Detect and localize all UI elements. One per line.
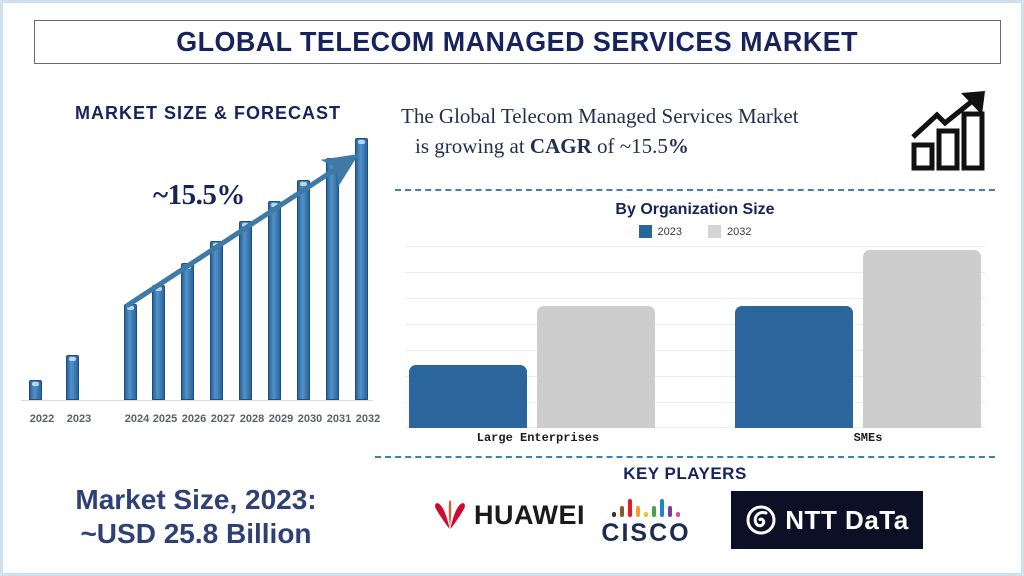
legend-swatch-2032: [708, 225, 721, 238]
legend-label-2032: 2032: [727, 226, 751, 238]
bar-2023: [66, 355, 79, 400]
bar-2030: [297, 180, 310, 400]
logo-cisco[interactable]: CISCO: [581, 495, 711, 548]
org-chart-legend: 2023 2032: [395, 225, 995, 238]
chart-baseline: [21, 400, 373, 401]
bar-2022: [29, 380, 42, 400]
legend-item-2023: 2023: [639, 225, 682, 238]
legend-label-2023: 2023: [658, 226, 682, 238]
bar-large-enterprises-2023: [409, 365, 527, 428]
growth-chart-icon: [911, 87, 997, 171]
bar-smes-2032: [863, 250, 981, 428]
divider-bottom: [375, 456, 995, 458]
bar-large-enterprises-2032: [537, 306, 655, 428]
bar-2032: [355, 138, 368, 400]
description-line-1: The Global Telecom Managed Services Mark…: [401, 101, 901, 131]
bar-2027: [210, 241, 223, 400]
title-box: GLOBAL TELECOM MANAGED SERVICES MARKET: [34, 20, 1001, 64]
xlabel-2032: 2032: [351, 413, 385, 425]
divider-top: [395, 189, 995, 191]
xlabel-2022: 2022: [25, 413, 59, 425]
bar-2025: [152, 285, 165, 400]
cisco-bars-icon: [581, 495, 711, 517]
org-size-bar-chart: [405, 246, 985, 428]
bar-smes-2023: [735, 306, 853, 428]
description-line-2-a: is growing at: [415, 134, 530, 158]
bar-2026: [181, 263, 194, 400]
key-players-heading: KEY PLAYERS: [375, 464, 995, 484]
bar-2028: [239, 221, 252, 400]
bar-2029: [268, 201, 281, 400]
bar-2031: [326, 158, 339, 400]
market-size-callout: Market Size, 2023: ~USD 25.8 Billion: [21, 483, 371, 551]
bar-2024: [124, 304, 137, 400]
description-line-2: is growing at CAGR of ~15.5%: [401, 131, 901, 161]
key-players-logos: HUAWEI CISCO NTT DaTa: [403, 489, 983, 557]
org-xlabel-smes: SMEs: [743, 431, 993, 445]
org-size-heading: By Organization Size: [395, 201, 995, 219]
description-line-2-c: of ~15.5: [592, 134, 668, 158]
cagr-keyword: CAGR: [530, 134, 592, 158]
huawei-wordmark: HUAWEI: [474, 500, 585, 531]
huawei-flower-icon: [433, 499, 467, 531]
logo-ntt-data[interactable]: NTT DaTa: [731, 491, 923, 549]
market-size-line-1: Market Size, 2023:: [21, 483, 371, 517]
market-size-line-2: ~USD 25.8 Billion: [21, 517, 371, 551]
org-xlabel-large-enterprises: Large Enterprises: [413, 431, 663, 445]
market-description: The Global Telecom Managed Services Mark…: [401, 101, 901, 161]
cisco-wordmark: CISCO: [581, 519, 711, 548]
ntt-data-wordmark: NTT DaTa: [785, 505, 908, 536]
percent-symbol: %: [668, 134, 689, 158]
xlabel-2023: 2023: [62, 413, 96, 425]
ntt-data-swirl-icon: [745, 504, 777, 536]
gridline-1: [405, 246, 985, 247]
infographic-page: GLOBAL TELECOM MANAGED SERVICES MARKET M…: [0, 0, 1024, 576]
legend-swatch-2023: [639, 225, 652, 238]
logo-huawei[interactable]: HUAWEI: [433, 499, 585, 531]
market-size-forecast-heading: MARKET SIZE & FORECAST: [63, 103, 353, 124]
legend-item-2032: 2032: [708, 225, 751, 238]
page-title: GLOBAL TELECOM MANAGED SERVICES MARKET: [177, 26, 859, 58]
cagr-annotation-left: ~15.5%: [153, 179, 245, 212]
